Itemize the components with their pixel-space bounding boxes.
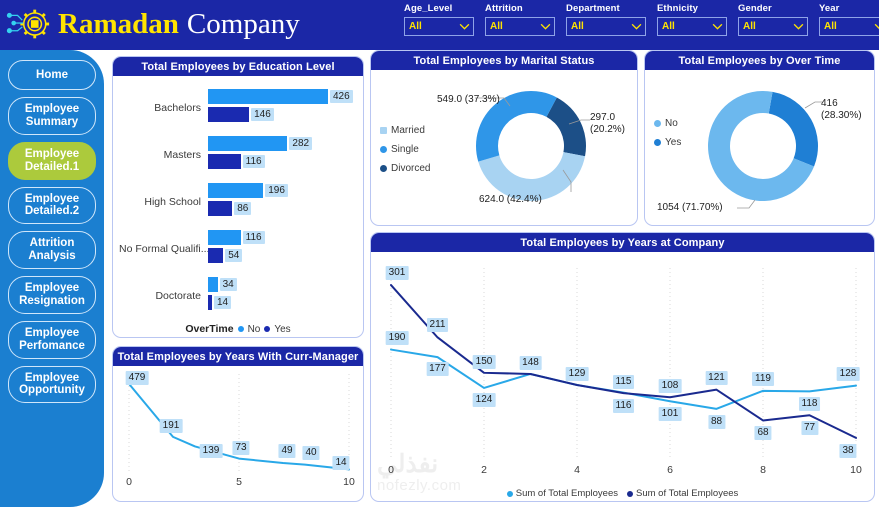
bar-no[interactable]: 34 <box>208 277 218 292</box>
sidebar-nav: Home Employee Summary Employee Detailed.… <box>0 50 104 507</box>
slice-label-yes: 416(28.30%) <box>821 98 862 122</box>
bar-group[interactable]: Doctorate3414 <box>119 272 357 319</box>
education-legend: OverTime No Yes <box>113 323 363 335</box>
x-axis-tick: 4 <box>574 464 580 476</box>
chevron-down-icon <box>540 23 551 30</box>
legend-swatch <box>507 491 513 497</box>
donut-slice-yes[interactable] <box>769 92 818 167</box>
filter-select[interactable]: All <box>404 17 474 36</box>
data-point-label: 128 <box>837 367 860 381</box>
panel-education-level: Total Employees by Education Level Bache… <box>112 56 364 338</box>
filter-label: Year <box>819 3 879 14</box>
legend-label-yes: Yes <box>274 324 290 335</box>
bar-yes[interactable]: 146 <box>208 107 249 122</box>
panel-title: Total Employees by Years at Company <box>371 233 874 252</box>
x-axis-tick: 6 <box>667 464 673 476</box>
panel-title: Total Employees by Over Time <box>645 51 874 70</box>
filter-gender[interactable]: Gender All <box>738 3 808 36</box>
bar-value-label: 54 <box>225 249 242 262</box>
chevron-down-icon <box>459 23 470 30</box>
bar-value-label: 116 <box>243 231 265 244</box>
data-point-label: 124 <box>473 393 496 407</box>
filter-label: Gender <box>738 3 808 14</box>
filter-label: Attrition <box>485 3 555 14</box>
panel-title: Total Employees by Marital Status <box>371 51 637 70</box>
filter-bar: Age_Level All Attrition All Department A… <box>404 3 879 36</box>
data-point-label: 101 <box>659 407 682 421</box>
brand-name-primary: Ramadan <box>58 8 179 40</box>
bar-group[interactable]: No Formal Qualifi...11654 <box>119 225 357 272</box>
panel-years-at-company: Total Employees by Years at Company نفذل… <box>370 232 875 502</box>
legend-swatch <box>627 491 633 497</box>
data-point-label: 177 <box>426 362 449 376</box>
data-point-label: 68 <box>754 426 771 440</box>
bar-no[interactable]: 282 <box>208 136 287 151</box>
dashboard-root: Ramadan Company Age_Level All Attrition … <box>0 0 879 507</box>
filter-select[interactable]: All <box>738 17 808 36</box>
bar-no[interactable]: 196 <box>208 183 263 198</box>
app-header: Ramadan Company Age_Level All Attrition … <box>0 0 879 50</box>
x-axis-tick: 0 <box>126 476 132 488</box>
data-point-label: 115 <box>613 375 635 389</box>
sidebar-item-employee-detailed-2[interactable]: Employee Detailed.2 <box>8 187 96 225</box>
data-point-label: 139 <box>200 444 223 458</box>
bar-value-label: 116 <box>243 155 265 168</box>
sidebar-item-label: Employee Detailed.1 <box>12 148 92 174</box>
x-axis-tick: 0 <box>388 464 394 476</box>
data-point-label: 148 <box>519 356 542 370</box>
filter-year[interactable]: Year All <box>819 3 879 36</box>
legend-item-series-2: Sum of Total Employees <box>627 488 738 499</box>
filter-select[interactable]: All <box>657 17 727 36</box>
marital-donut-chart[interactable]: Married Single Divorced 549.0 (37.3%) 62… <box>371 70 637 226</box>
bar-value-label: 34 <box>220 278 237 291</box>
data-point-label: 301 <box>386 266 409 280</box>
panel-marital-status: Total Employees by Marital Status Marrie… <box>370 50 638 226</box>
chevron-down-icon <box>712 23 723 30</box>
filter-label: Ethnicity <box>657 3 727 14</box>
bar-category-label: Bachelors <box>119 102 208 114</box>
sidebar-item-attrition-analysis[interactable]: Attrition Analysis <box>8 231 96 269</box>
bar-pair: 3414 <box>208 276 357 316</box>
x-axis-tick: 10 <box>850 464 862 476</box>
data-point-label: 108 <box>659 379 682 393</box>
sidebar-item-label: Attrition Analysis <box>12 237 92 263</box>
filter-label: Department <box>566 3 646 14</box>
education-chart[interactable]: Bachelors426146Masters282116High School1… <box>113 76 363 335</box>
filter-value: All <box>824 22 837 32</box>
brand-name-secondary: Company <box>187 8 300 40</box>
slice-label-single: 549.0 (37.3%) <box>437 94 500 106</box>
bar-value-label: 196 <box>265 184 288 197</box>
x-axis-tick: 5 <box>236 476 242 488</box>
sidebar-item-employee-opportunity[interactable]: Employee Opportunity <box>8 366 96 404</box>
sidebar-item-employee-summary[interactable]: Employee Summary <box>8 97 96 135</box>
data-point-label: 121 <box>705 371 728 385</box>
data-point-label: 116 <box>613 399 635 413</box>
data-point-label: 119 <box>752 372 774 386</box>
filter-value: All <box>571 22 584 32</box>
chevron-down-icon <box>874 23 879 30</box>
sidebar-item-employee-resignation[interactable]: Employee Resignation <box>8 276 96 314</box>
bar-yes[interactable]: 86 <box>208 201 232 216</box>
filter-age-level[interactable]: Age_Level All <box>404 3 474 36</box>
legend-item-series-1: Sum of Total Employees <box>507 488 618 499</box>
sidebar-item-label: Employee Summary <box>12 103 92 129</box>
bar-yes[interactable]: 116 <box>208 154 241 169</box>
manager-line-chart[interactable]: 479191139734940140510 <box>113 366 363 501</box>
legend-title: OverTime <box>185 323 233 335</box>
bar-yes[interactable]: 14 <box>208 295 212 310</box>
bar-group[interactable]: Masters282116 <box>119 131 357 178</box>
sidebar-item-home[interactable]: Home <box>8 60 96 90</box>
filter-value: All <box>490 22 503 32</box>
years-legend: Sum of Total Employees Sum of Total Empl… <box>371 488 874 499</box>
sidebar-item-employee-perfomance[interactable]: Employee Perfomance <box>8 321 96 359</box>
slice-label-no: 1054 (71.70%) <box>657 202 723 214</box>
bar-value-label: 86 <box>234 202 251 215</box>
x-axis-tick: 2 <box>481 464 487 476</box>
data-point-label: 129 <box>566 367 589 381</box>
legend-label: Sum of Total Employees <box>516 488 618 499</box>
data-point-label: 73 <box>232 441 249 455</box>
legend-swatch-no <box>238 326 244 332</box>
bar-value-label: 146 <box>251 108 274 121</box>
filter-value: All <box>662 22 675 32</box>
bar-no[interactable]: 426 <box>208 89 328 104</box>
filter-select[interactable]: All <box>566 17 646 36</box>
bar-category-label: Masters <box>119 149 208 161</box>
filter-attrition[interactable]: Attrition All <box>485 3 555 36</box>
bar-rows: Bachelors426146Masters282116High School1… <box>113 76 363 319</box>
filter-ethnicity[interactable]: Ethnicity All <box>657 3 727 36</box>
line-series-2[interactable] <box>391 285 856 438</box>
sidebar-item-employee-detailed-1[interactable]: Employee Detailed.1 <box>8 142 96 180</box>
data-point-label: 118 <box>799 397 821 411</box>
sidebar-item-label: Employee Detailed.2 <box>12 193 92 219</box>
data-point-label: 38 <box>839 444 856 458</box>
bar-pair: 19686 <box>208 182 357 222</box>
bar-pair: 426146 <box>208 88 357 128</box>
chevron-down-icon <box>793 23 804 30</box>
bar-value-label: 282 <box>289 137 312 150</box>
donut-slice-divorced[interactable] <box>546 97 586 156</box>
panel-title: Total Employees by Years With Curr-Manag… <box>113 347 363 366</box>
sidebar-item-label: Employee Resignation <box>12 282 92 308</box>
data-point-label: 40 <box>302 446 319 460</box>
data-point-label: 49 <box>278 444 295 458</box>
panel-over-time: Total Employees by Over Time No Yes 416(… <box>644 50 875 226</box>
legend-label-no: No <box>248 324 261 335</box>
data-point-label: 479 <box>126 371 149 385</box>
data-point-label: 150 <box>473 355 496 369</box>
brand: Ramadan Company <box>6 2 300 46</box>
data-point-label: 77 <box>801 421 818 435</box>
sidebar-item-label: Employee Perfomance <box>12 327 92 353</box>
bar-group[interactable]: Bachelors426146 <box>119 84 357 131</box>
bar-pair: 282116 <box>208 135 357 175</box>
data-point-label: 88 <box>708 415 725 429</box>
bar-pair: 11654 <box>208 229 357 269</box>
bar-category-label: High School <box>119 196 208 208</box>
slice-label-divorced: 297.0(20.2%) <box>590 112 625 136</box>
filter-value: All <box>743 22 756 32</box>
data-point-label: 14 <box>332 456 349 470</box>
filter-select[interactable]: All <box>485 17 555 36</box>
data-point-label: 190 <box>386 331 409 345</box>
bar-yes[interactable]: 54 <box>208 248 223 263</box>
data-point-label: 211 <box>427 318 449 332</box>
slice-label-married: 624.0 (42.4%) <box>479 194 542 206</box>
legend-label: Sum of Total Employees <box>636 488 738 499</box>
filter-value: All <box>409 22 422 32</box>
sidebar-item-label: Home <box>36 69 68 82</box>
bar-no[interactable]: 116 <box>208 230 241 245</box>
bar-value-label: 426 <box>330 90 353 103</box>
years-line-chart[interactable]: نفذلي nofezly.com Sum of Total Employees… <box>371 252 874 501</box>
x-axis-tick: 10 <box>343 476 355 488</box>
filter-label: Age_Level <box>404 3 474 14</box>
bar-category-label: Doctorate <box>119 290 208 302</box>
filter-department[interactable]: Department All <box>566 3 646 36</box>
bar-value-label: 14 <box>214 296 231 309</box>
panel-title: Total Employees by Education Level <box>113 57 363 76</box>
bar-category-label: No Formal Qualifi... <box>119 243 208 255</box>
legend-swatch-yes <box>264 326 270 332</box>
filter-select[interactable]: All <box>819 17 879 36</box>
x-axis-tick: 8 <box>760 464 766 476</box>
chevron-down-icon <box>631 23 642 30</box>
overtime-donut-chart[interactable]: No Yes 416(28.30%) 1054 (71.70%) <box>645 70 874 226</box>
gear-circuit-logo-icon <box>6 2 52 46</box>
data-point-label: 191 <box>160 419 183 433</box>
sidebar-item-label: Employee Opportunity <box>12 372 92 398</box>
bar-group[interactable]: High School19686 <box>119 178 357 225</box>
panel-years-with-curr-manager: Total Employees by Years With Curr-Manag… <box>112 346 364 502</box>
